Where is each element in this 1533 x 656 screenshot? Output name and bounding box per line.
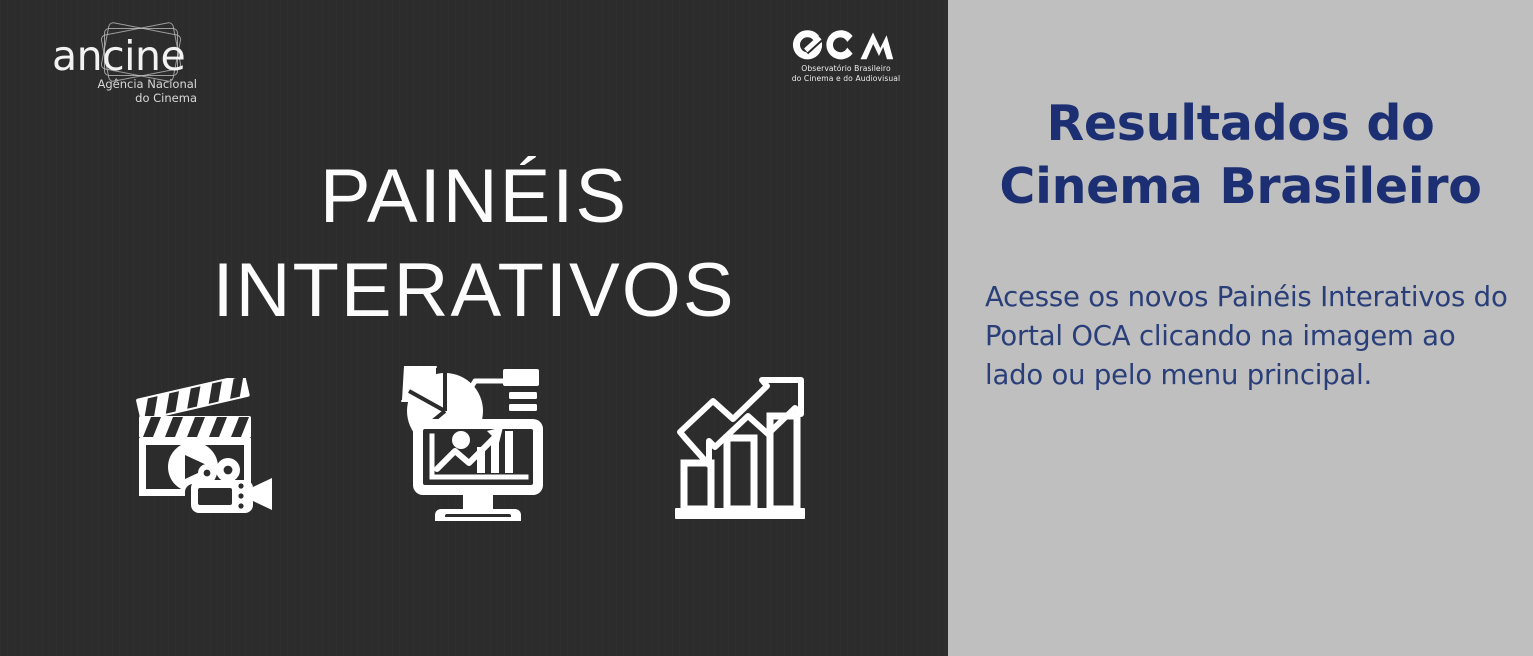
icon-row — [0, 358, 948, 538]
painel-interativos-banner: ancine Agência Nacional do Cinema Observ… — [0, 0, 1533, 656]
dashboard-monitor-charts-icon — [399, 363, 549, 533]
gray-description-panel: Resultados do Cinema Brasileiro Acesse o… — [948, 0, 1533, 656]
oca-wordmark-graphic — [790, 28, 902, 62]
bar-chart-growth-arrow-icon — [667, 368, 817, 528]
ancine-logo[interactable]: ancine Agência Nacional do Cinema — [52, 18, 197, 114]
ancine-wordmark: ancine — [52, 36, 185, 77]
dark-promo-panel[interactable]: ancine Agência Nacional do Cinema Observ… — [0, 0, 948, 656]
oca-tagline: Observatório Brasileiro do Cinema e do A… — [790, 64, 902, 83]
ancine-tagline: Agência Nacional do Cinema — [52, 78, 197, 105]
results-heading: Resultados do Cinema Brasileiro — [948, 92, 1533, 218]
results-description: Acesse os novos Painéis Interativos do P… — [985, 278, 1515, 395]
clapperboard-video-camera-icon — [131, 378, 281, 518]
oca-logo[interactable]: Observatório Brasileiro do Cinema e do A… — [790, 28, 902, 90]
panel-headline: PAINÉIS INTERATIVOS — [0, 150, 948, 338]
